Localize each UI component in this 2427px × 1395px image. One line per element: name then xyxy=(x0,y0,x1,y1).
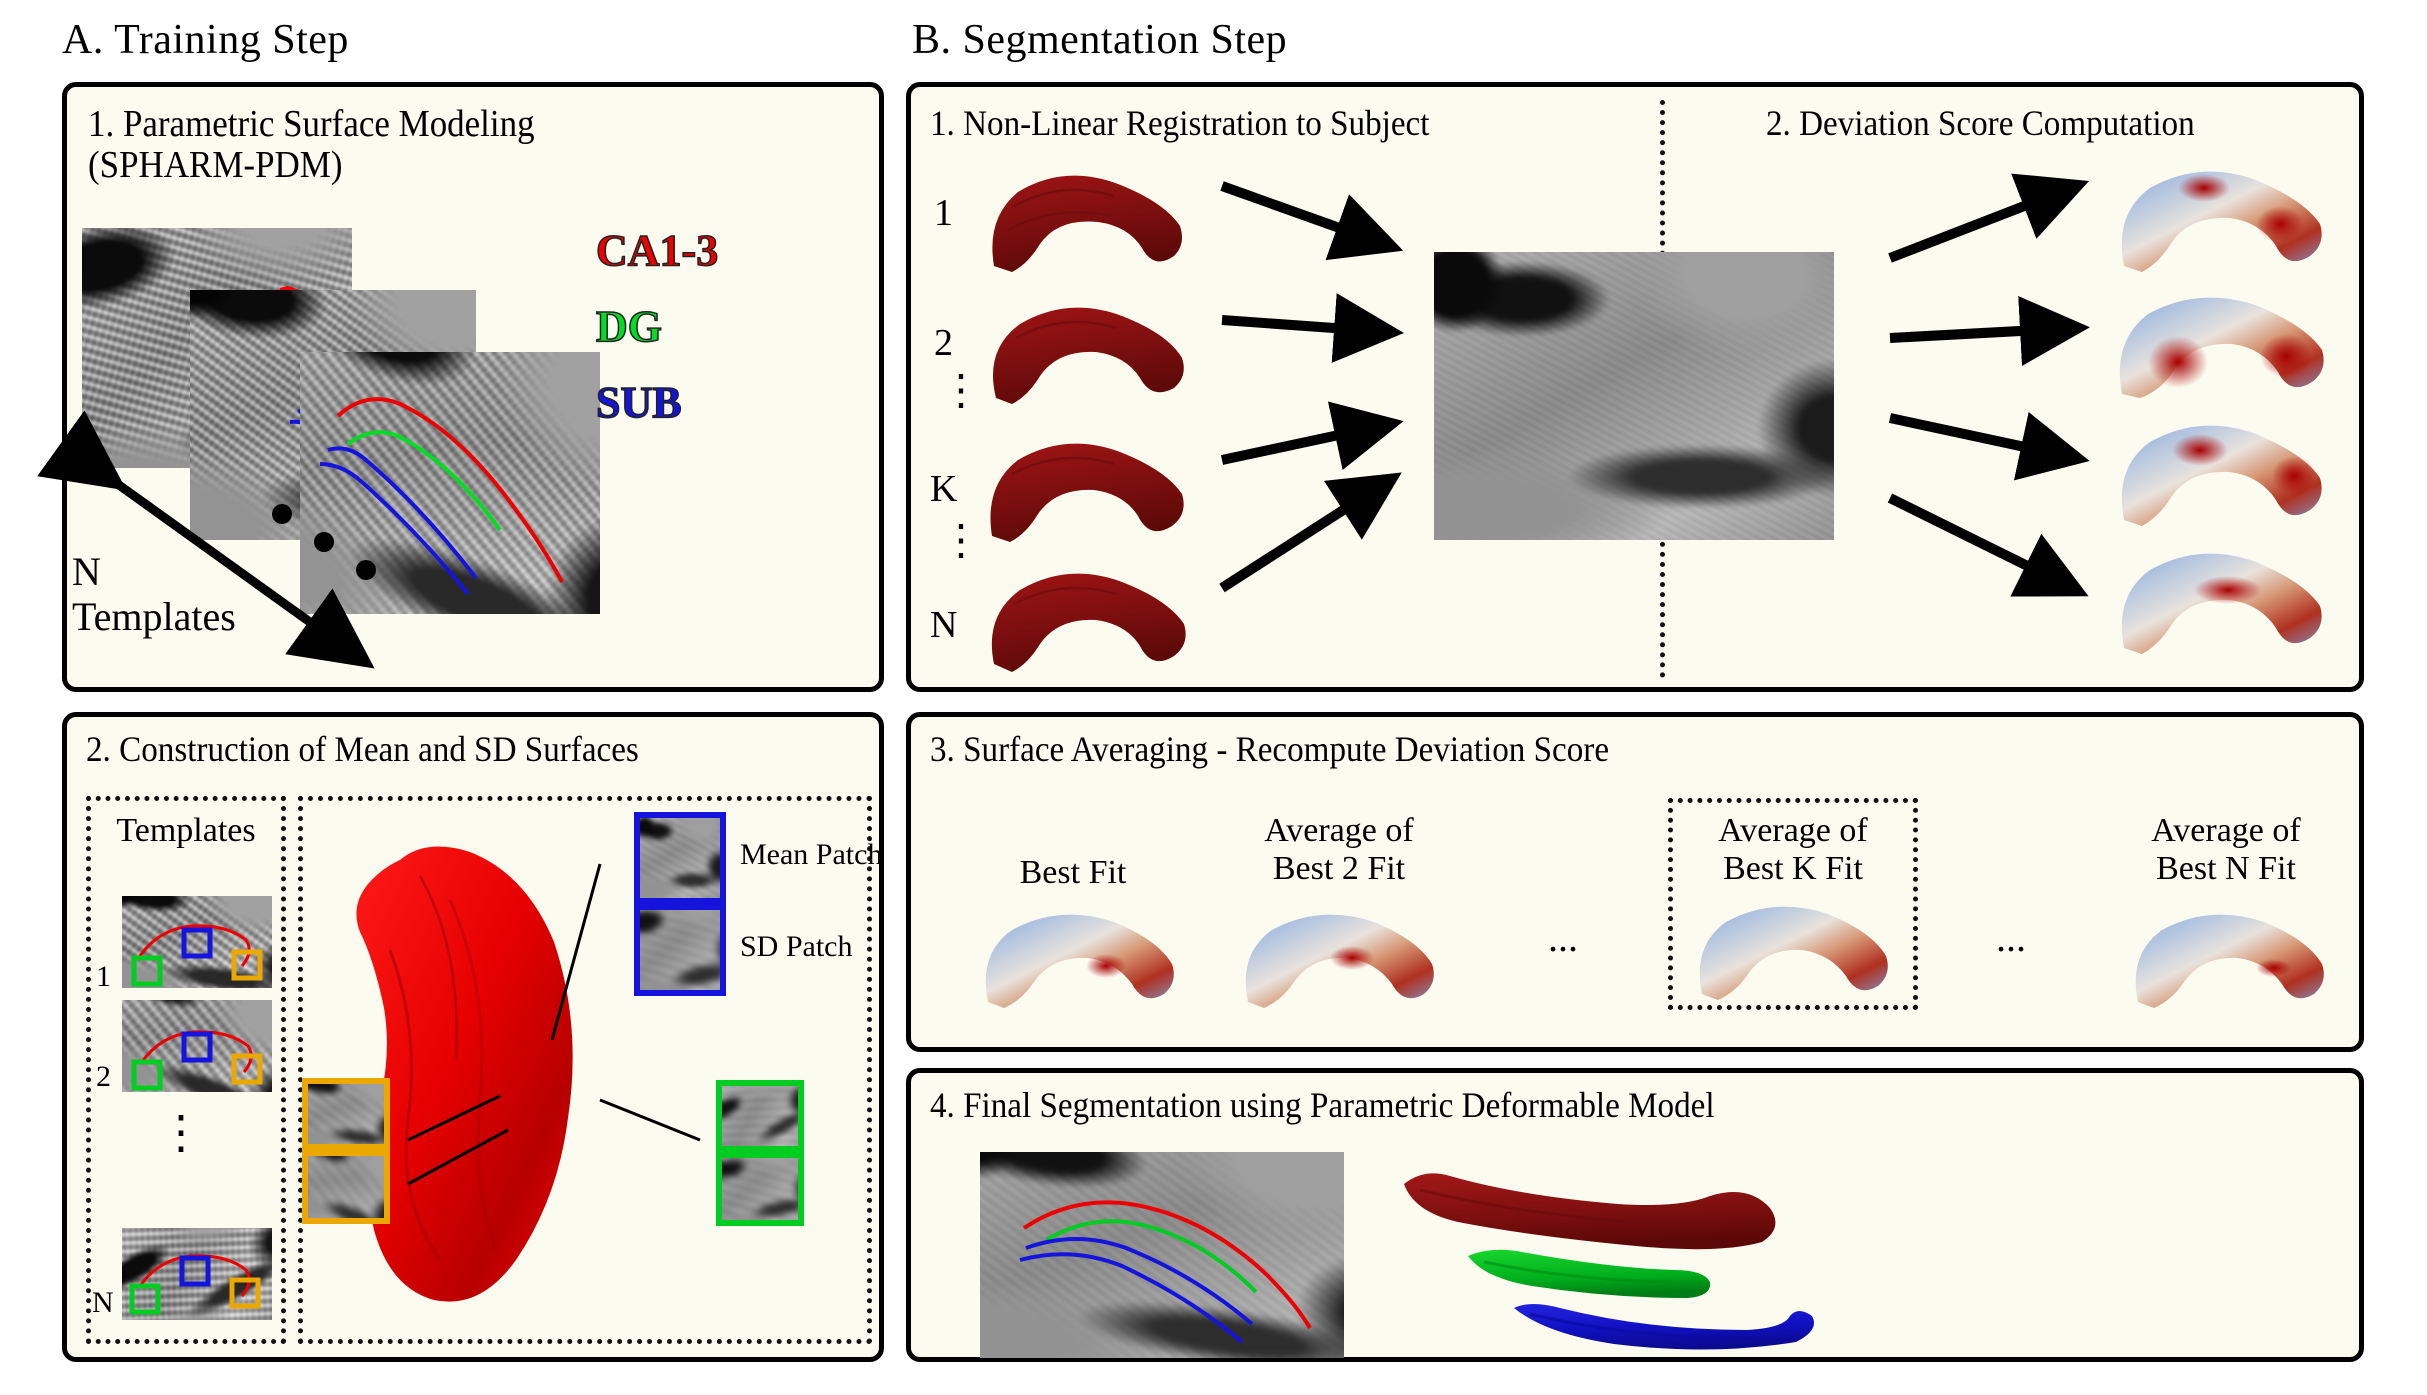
average-best-n-fit-label: Average of Best N Fit xyxy=(2106,812,2346,888)
b1-row-label-1: 1 xyxy=(934,192,953,235)
b1-row-ellipsis-2: ⋮ xyxy=(940,528,982,554)
subject-mri-image xyxy=(1434,252,1834,540)
panel-b-step3-title: 3. Surface Averaging - Recompute Deviati… xyxy=(930,730,1609,769)
template-surface-n xyxy=(978,570,1188,680)
panel-b-step4-title: 4. Final Segmentation using Parametric D… xyxy=(930,1086,1715,1125)
mean-patch-label: Mean Patch xyxy=(740,838,882,872)
panel-a-step2-title: 2. Construction of Mean and SD Surfaces xyxy=(86,730,813,769)
b3-surface-best-k-fit xyxy=(1688,902,1888,1010)
b3-surface-best-n-fit xyxy=(2124,910,2324,1018)
deviation-surface-1 xyxy=(2108,166,2338,284)
orange-patch-bottom xyxy=(302,1150,390,1224)
panel-a-step1-title: 1. Parametric Surface Modeling (SPHARM-P… xyxy=(88,104,787,186)
sd-patch-label: SD Patch xyxy=(740,930,853,964)
b3-ellipsis-2: ... xyxy=(1966,916,2056,961)
legend-ca13: CA1-3 xyxy=(596,226,718,275)
final-structure-surfaces xyxy=(1380,1150,1900,1362)
deviation-surface-4 xyxy=(2108,548,2338,666)
templates-header: Templates xyxy=(86,812,286,850)
template-row-label-1: 1 xyxy=(96,960,111,994)
template-thumb-1-overlay xyxy=(122,896,272,988)
b1-row-ellipsis-1: ⋮ xyxy=(940,378,982,404)
b1-row-label-2: 2 xyxy=(934,322,953,365)
template-surface-k xyxy=(978,440,1188,550)
panel-b-step2-title: 2. Deviation Score Computation xyxy=(1766,104,2195,143)
b3-surface-best-fit xyxy=(974,910,1174,1018)
orange-patch-top xyxy=(302,1078,390,1150)
template-surface-2 xyxy=(978,300,1188,410)
template-thumb-n-overlay xyxy=(122,1228,272,1320)
deviation-surface-2 xyxy=(2108,292,2338,410)
panel-b-letter: B. Segmentation Step xyxy=(912,16,1287,64)
average-best-k-fit-label: Average of Best K Fit xyxy=(1668,812,1918,888)
panel-b-step1-title: 1. Non-Linear Registration to Subject xyxy=(930,104,1429,143)
deviation-arrows xyxy=(1886,150,2106,650)
b1-row-label-k: K xyxy=(930,468,957,511)
b3-surface-best-2-fit xyxy=(1234,910,1434,1018)
sd-patch-image xyxy=(634,904,726,996)
mean-patch-image xyxy=(634,812,726,904)
panel-a-letter: A. Training Step xyxy=(62,16,349,64)
template-thumb-2-overlay xyxy=(122,1000,272,1092)
green-patch-bottom xyxy=(716,1152,804,1226)
average-best-2-fit-label: Average of Best 2 Fit xyxy=(1224,812,1454,888)
legend-dg: DG xyxy=(596,302,662,351)
b3-ellipsis-1: ... xyxy=(1518,916,1608,961)
deviation-surface-3 xyxy=(2108,420,2338,538)
ellipsis-dots-a1 xyxy=(268,500,408,590)
best-fit-label: Best Fit xyxy=(968,854,1178,892)
b1-row-label-n: N xyxy=(930,604,957,647)
template-row-label-n: N xyxy=(92,1286,114,1320)
registration-arrows xyxy=(1218,150,1418,650)
template-row-label-2: 2 xyxy=(96,1060,111,1094)
final-segmentation-contours xyxy=(980,1152,1344,1358)
n-templates-label: N Templates xyxy=(72,550,236,640)
template-surface-1 xyxy=(978,170,1188,280)
green-patch-top xyxy=(716,1080,804,1152)
legend-sub: SUB xyxy=(596,378,682,427)
template-rows-ellipsis: ⋮ xyxy=(158,1116,204,1149)
patch-leader-lines xyxy=(300,800,880,1346)
